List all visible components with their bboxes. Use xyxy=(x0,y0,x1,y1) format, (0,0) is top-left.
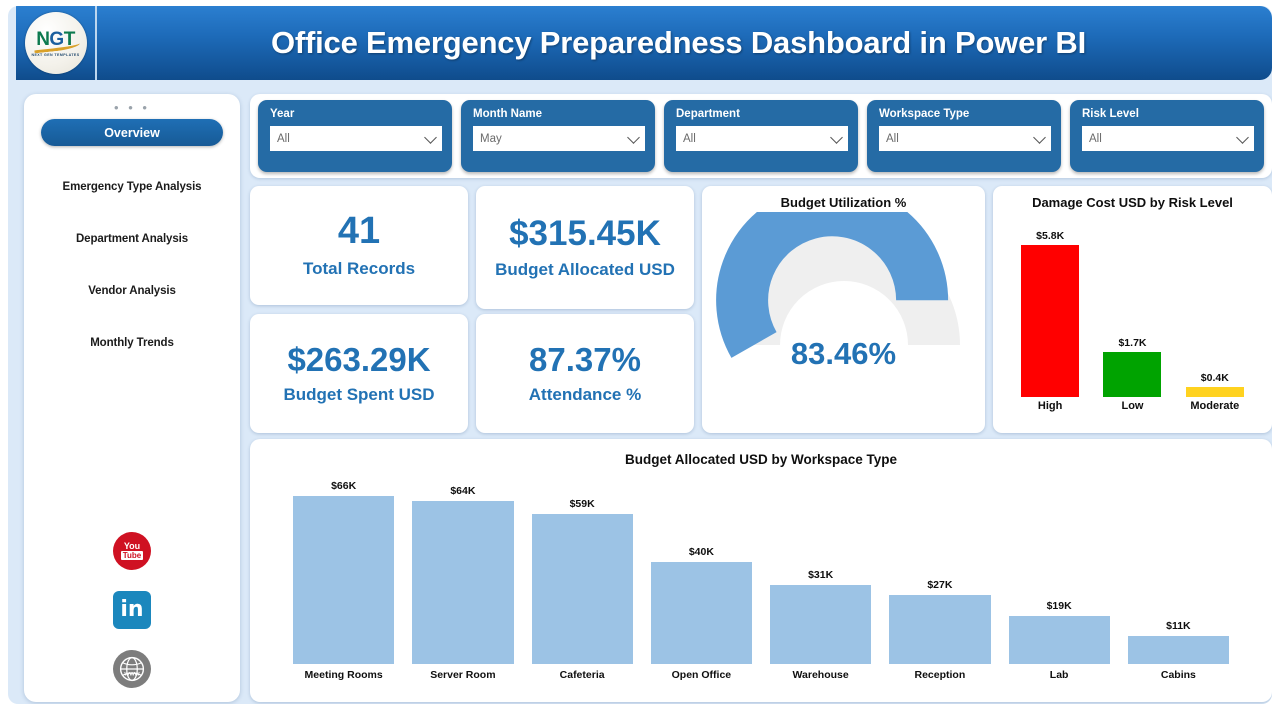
bar-category-label: High xyxy=(1038,400,1062,412)
chevron-down-icon xyxy=(1236,131,1249,144)
workspace-bar-column[interactable]: $27KReception xyxy=(880,469,999,681)
bar-value-label: $19K xyxy=(1047,600,1072,612)
workspace-bar[interactable] xyxy=(651,562,752,664)
workspace-bar[interactable] xyxy=(532,514,633,664)
bar-value-label: $66K xyxy=(331,480,356,492)
slicer-value: All xyxy=(683,133,696,145)
kpi-card-total-records[interactable]: 41 Total Records xyxy=(250,186,468,305)
logo-wordmark: NGT xyxy=(36,30,75,49)
sidebar-item-vendor-analysis[interactable]: Vendor Analysis xyxy=(41,280,223,302)
slicer-label: Workspace Type xyxy=(879,108,1051,120)
dashboard-app: NGT NEXT GEN TEMPLATES Office Emergency … xyxy=(0,0,1280,712)
linkedin-icon-glyph: in xyxy=(120,599,143,621)
bar-value-label: $27K xyxy=(927,579,952,591)
kpi-label: Budget Allocated USD xyxy=(495,260,675,280)
gauge-value-label: 83.46% xyxy=(702,336,985,372)
bar-value-label: $59K xyxy=(570,498,595,510)
page-title: Office Emergency Preparedness Dashboard … xyxy=(97,6,1272,80)
workspace-bars-container: $66KMeeting Rooms$64KServer Room$59KCafe… xyxy=(284,469,1238,681)
bar-value-label: $1.7K xyxy=(1118,337,1146,349)
sidebar-item-overview[interactable]: Overview xyxy=(41,119,223,146)
kpi-label: Attendance % xyxy=(529,385,641,405)
report-canvas: NGT NEXT GEN TEMPLATES Office Emergency … xyxy=(8,6,1272,704)
youtube-icon[interactable]: You Tube xyxy=(113,532,151,570)
bar-category-label: Server Room xyxy=(430,669,495,681)
logo-tagline: NEXT GEN TEMPLATES xyxy=(31,53,79,57)
damage-bar[interactable] xyxy=(1021,245,1079,397)
gauge-plot: 83.46% xyxy=(702,212,985,412)
chart-budget-utilization-gauge[interactable]: Budget Utilization % 83.46% xyxy=(702,186,985,433)
kpi-card-budget-spent[interactable]: $263.29K Budget Spent USD xyxy=(250,314,468,433)
kpi-value: 87.37% xyxy=(529,343,641,378)
kpi-label: Total Records xyxy=(303,259,415,279)
sidebar-item-department-analysis[interactable]: Department Analysis xyxy=(41,228,223,250)
brand-logo[interactable]: NGT NEXT GEN TEMPLATES xyxy=(16,6,97,80)
workspace-bar-column[interactable]: $31KWarehouse xyxy=(761,469,880,681)
slicer-dropdown[interactable]: All xyxy=(270,126,442,151)
workspace-bar[interactable] xyxy=(889,595,990,664)
damage-bar[interactable] xyxy=(1186,387,1244,397)
kpi-value: 41 xyxy=(338,212,380,252)
sidebar-item-label: Monthly Trends xyxy=(90,337,174,349)
bar-value-label: $11K xyxy=(1166,620,1191,632)
workspace-bar[interactable] xyxy=(1128,636,1229,664)
bar-category-label: Cabins xyxy=(1161,669,1196,681)
workspace-bar[interactable] xyxy=(770,585,871,664)
bar-category-label: Reception xyxy=(914,669,965,681)
slicer-year[interactable]: Year All xyxy=(258,100,452,172)
bar-value-label: $64K xyxy=(450,485,475,497)
slicer-department[interactable]: Department All xyxy=(664,100,858,172)
sidebar-item-label: Vendor Analysis xyxy=(88,285,176,297)
workspace-bar-column[interactable]: $40KOpen Office xyxy=(642,469,761,681)
kpi-value: $263.29K xyxy=(287,343,430,378)
workspace-bar-column[interactable]: $64KServer Room xyxy=(403,469,522,681)
bar-category-label: Meeting Rooms xyxy=(305,669,383,681)
workspace-bar-column[interactable]: $66KMeeting Rooms xyxy=(284,469,403,681)
bar-value-label: $40K xyxy=(689,546,714,558)
damage-bar-column[interactable]: $5.8KHigh xyxy=(1021,214,1079,412)
kpi-card-budget-allocated[interactable]: $315.45K Budget Allocated USD xyxy=(476,186,694,309)
slicer-label: Month Name xyxy=(473,108,645,120)
damage-bar-column[interactable]: $1.7KLow xyxy=(1103,214,1161,412)
slicer-dropdown[interactable]: All xyxy=(1082,126,1254,151)
chart-title: Budget Utilization % xyxy=(702,186,985,210)
workspace-bar-column[interactable]: $59KCafeteria xyxy=(523,469,642,681)
slicer-dropdown[interactable]: All xyxy=(676,126,848,151)
sidebar-item-monthly-trends[interactable]: Monthly Trends xyxy=(41,332,223,354)
damage-bar[interactable] xyxy=(1103,352,1161,397)
sidebar-nav: • • • Overview Emergency Type Analysis D… xyxy=(24,94,240,702)
bar-category-label: Warehouse xyxy=(793,669,849,681)
youtube-icon-line1: You xyxy=(124,542,140,550)
logo-letter-g: G xyxy=(49,29,63,50)
sidebar-item-label: Emergency Type Analysis xyxy=(63,181,202,193)
sidebar-more-options-icon[interactable]: • • • xyxy=(114,101,150,113)
chevron-down-icon xyxy=(424,131,437,144)
logo-letter-n: N xyxy=(36,29,49,50)
damage-bars-container: $5.8KHigh$1.7KLow$0.4KModerate xyxy=(1009,214,1256,412)
kpi-label: Budget Spent USD xyxy=(283,385,434,405)
slicer-dropdown[interactable]: May xyxy=(473,126,645,151)
slicer-workspace-type[interactable]: Workspace Type All xyxy=(867,100,1061,172)
slicer-panel: Year All Month Name May Department All xyxy=(250,94,1272,178)
chart-title: Budget Allocated USD by Workspace Type xyxy=(250,439,1272,467)
youtube-icon-line2: Tube xyxy=(121,551,144,560)
website-globe-icon[interactable]: www xyxy=(113,650,151,688)
kpi-card-attendance[interactable]: 87.37% Attendance % xyxy=(476,314,694,433)
slicer-value: May xyxy=(480,133,502,145)
bar-value-label: $5.8K xyxy=(1036,230,1064,242)
bar-value-label: $0.4K xyxy=(1201,372,1229,384)
chart-title: Damage Cost USD by Risk Level xyxy=(993,186,1272,210)
workspace-bar[interactable] xyxy=(293,496,394,664)
slicer-label: Risk Level xyxy=(1082,108,1254,120)
logo-letter-t: T xyxy=(64,29,75,50)
workspace-bar[interactable] xyxy=(1009,616,1110,664)
slicer-risk-level[interactable]: Risk Level All xyxy=(1070,100,1264,172)
bar-category-label: Moderate xyxy=(1190,400,1239,412)
linkedin-icon[interactable]: in xyxy=(113,591,151,629)
chart-budget-allocated-by-workspace-type[interactable]: Budget Allocated USD by Workspace Type $… xyxy=(250,439,1272,702)
dashboard-header: NGT NEXT GEN TEMPLATES Office Emergency … xyxy=(16,6,1272,80)
sidebar-item-label: Department Analysis xyxy=(76,233,188,245)
social-links: You Tube in www xyxy=(24,532,240,688)
slicer-dropdown[interactable]: All xyxy=(879,126,1051,151)
slicer-value: All xyxy=(886,133,899,145)
slicer-label: Department xyxy=(676,108,848,120)
workspace-bar-column[interactable]: $19KLab xyxy=(1000,469,1119,681)
logo-circle-icon: NGT NEXT GEN TEMPLATES xyxy=(25,12,87,74)
bar-category-label: Low xyxy=(1121,400,1143,412)
slicer-value: All xyxy=(1089,133,1102,145)
slicer-month-name[interactable]: Month Name May xyxy=(461,100,655,172)
slicer-value: All xyxy=(277,133,290,145)
bar-category-label: Lab xyxy=(1050,669,1069,681)
bar-category-label: Open Office xyxy=(672,669,732,681)
chart-damage-cost-by-risk-level[interactable]: Damage Cost USD by Risk Level $5.8KHigh$… xyxy=(993,186,1272,433)
sidebar-item-label: Overview xyxy=(104,126,160,140)
chevron-down-icon xyxy=(627,131,640,144)
slicer-label: Year xyxy=(270,108,442,120)
kpi-value: $315.45K xyxy=(509,216,661,253)
chevron-down-icon xyxy=(1033,131,1046,144)
workspace-bar[interactable] xyxy=(412,501,513,664)
svg-text:www: www xyxy=(123,671,140,678)
damage-bar-column[interactable]: $0.4KModerate xyxy=(1186,214,1244,412)
chevron-down-icon xyxy=(830,131,843,144)
sidebar-item-emergency-type-analysis[interactable]: Emergency Type Analysis xyxy=(41,176,223,198)
workspace-bar-column[interactable]: $11KCabins xyxy=(1119,469,1238,681)
bar-value-label: $31K xyxy=(808,569,833,581)
bar-category-label: Cafeteria xyxy=(560,669,605,681)
